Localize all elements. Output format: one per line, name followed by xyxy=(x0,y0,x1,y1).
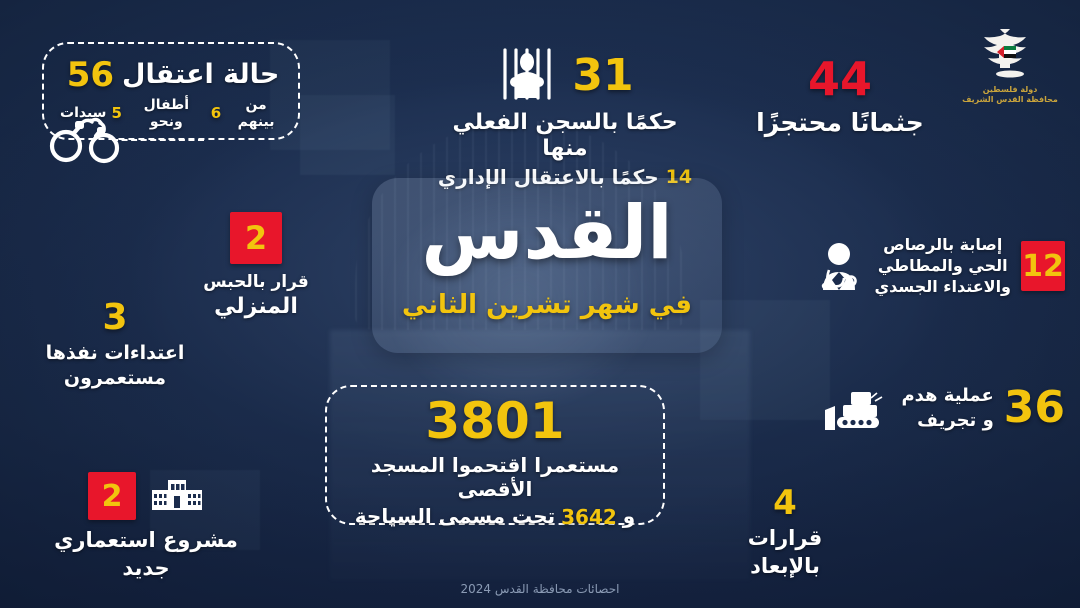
aqsa-label-line2-suffix: تحت مسمى السياحة xyxy=(355,505,555,529)
palestine-emblem-logo: دولة فلسطين محافظة القدس الشريف xyxy=(960,26,1060,104)
arrests-dashed-tail xyxy=(112,139,204,141)
house-arrest-label-line1: قرار بالحبس xyxy=(186,272,326,292)
stat-injuries: 12 إصابة بالرصاص الحي والمطاطي والاعتداء… xyxy=(775,236,1065,297)
settlement-projects-number: 2 xyxy=(88,472,136,520)
sentences-number: 31 xyxy=(572,54,633,98)
bodies-label: جثمانًا محتجزًا xyxy=(740,108,940,138)
stat-settler-attacks: 3 اعتداءات نفذها مستعمرون xyxy=(40,300,190,390)
footer-credit: احصائات محافظة القدس 2024 xyxy=(0,582,1080,596)
arrests-label: حالة اعتقال xyxy=(122,59,279,91)
house-arrest-label-line2: المنزلي xyxy=(186,294,326,320)
stat-aqsa-incursions: 3801 مستعمرا اقتحموا المسجد الأقصى و 364… xyxy=(340,396,650,529)
building-icon xyxy=(150,476,204,516)
deportations-label-line1: قرارات xyxy=(705,526,865,551)
logo-line1: دولة فلسطين xyxy=(960,85,1060,94)
settler-attacks-label-line2: مستعمرون xyxy=(40,367,190,389)
arrests-number: 56 xyxy=(67,58,114,92)
aqsa-number: 3801 xyxy=(340,396,650,446)
demolitions-number: 36 xyxy=(1004,386,1065,430)
aqsa-label-line2-number: 3642 xyxy=(561,507,617,527)
stat-settlement-projects: 2 مشروع استعماري جديد xyxy=(46,472,246,581)
stat-house-arrest: 2 قرار بالحبس المنزلي xyxy=(186,212,326,320)
stat-sentences: 31 xyxy=(430,48,700,190)
aqsa-label-line1: مستعمرا اقتحموا المسجد الأقصى xyxy=(340,454,650,501)
stat-deportations: 4 قرارات بالإبعاد xyxy=(705,486,865,579)
injuries-label-line2: الحي والمطاطي xyxy=(875,257,1012,276)
sentences-label: حكمًا بالسجن الفعلي منها xyxy=(430,110,700,162)
settler-attacks-number: 3 xyxy=(40,300,190,336)
title-plaque: القدس في شهر تشرين الثاني xyxy=(372,178,722,353)
palestine-eagle-emblem-icon xyxy=(978,26,1042,82)
settlement-projects-label-line2: جديد xyxy=(46,556,246,581)
arrests-children-label: أطفال ونحو xyxy=(127,97,206,130)
arrests-children-count: 6 xyxy=(211,106,221,121)
stat-bodies: 44 جثمانًا محتجزًا xyxy=(740,56,940,138)
deportations-label-line2: بالإبعاد xyxy=(705,554,865,579)
background-block xyxy=(300,95,395,175)
handcuffs-icon xyxy=(44,112,124,168)
house-arrest-number: 2 xyxy=(230,212,282,264)
prison-bars-icon xyxy=(496,48,558,104)
arrests-detail-prefix: من بينهم xyxy=(226,97,286,130)
aqsa-label-line2-prefix: و xyxy=(623,505,635,529)
settler-attacks-label-line1: اعتداءات نفذها xyxy=(40,342,190,364)
injuries-label-line1: إصابة بالرصاص xyxy=(875,236,1012,255)
injuries-number: 12 xyxy=(1021,241,1065,291)
logo-line2: محافظة القدس الشريف xyxy=(960,95,1060,104)
page-subtitle: في شهر تشرين الثاني xyxy=(372,290,722,320)
stat-demolitions: 36 عملية هدم و تجريف xyxy=(830,378,1065,438)
injuries-label-line3: والاعتداء الجسدي xyxy=(875,278,1012,297)
demolitions-label-line1: عملية هدم xyxy=(901,385,993,406)
settlement-projects-label-line1: مشروع استعماري xyxy=(46,528,246,553)
bodies-number: 44 xyxy=(740,56,940,102)
page-title: القدس xyxy=(372,196,722,270)
demolitions-label-line2: و تجريف xyxy=(901,410,993,431)
bulldozer-icon xyxy=(821,388,891,438)
infographic-canvas: حالة اعتقال 56 من بينهم 6 أطفال ونحو 5 س… xyxy=(0,0,1080,608)
doctor-stethoscope-icon xyxy=(813,236,865,296)
deportations-number: 4 xyxy=(705,486,865,520)
